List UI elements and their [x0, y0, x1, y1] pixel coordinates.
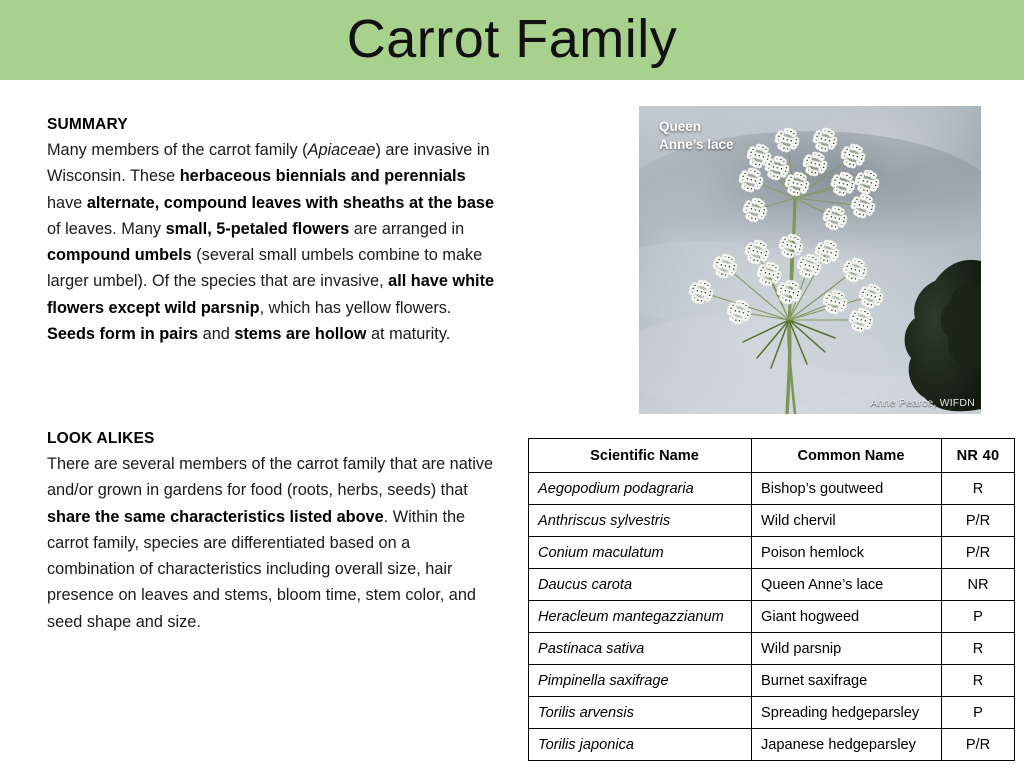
table-row: Torilis japonicaJapanese hedgeparsleyP/R: [529, 729, 1015, 761]
cell-nr40: P: [942, 601, 1015, 633]
cell-scientific-name: Anthriscus sylvestris: [529, 505, 752, 537]
cell-nr40: P/R: [942, 537, 1015, 569]
cell-nr40: R: [942, 665, 1015, 697]
cell-common-name: Queen Anne’s lace: [752, 569, 942, 601]
table-row: Torilis arvensisSpreading hedgeparsleyP: [529, 697, 1015, 729]
table-row: Pastinaca sativaWild parsnipR: [529, 633, 1015, 665]
column-header-common-name: Common Name: [752, 439, 942, 473]
table-row: Daucus carotaQueen Anne’s laceNR: [529, 569, 1015, 601]
column-header-nr40: NR 40: [942, 439, 1015, 473]
cell-scientific-name: Pimpinella saxifrage: [529, 665, 752, 697]
cell-common-name: Giant hogweed: [752, 601, 942, 633]
look-alikes-heading: LOOK ALIKES: [47, 427, 495, 450]
table-row: Pimpinella saxifrageBurnet saxifrageR: [529, 665, 1015, 697]
queen-annes-lace-photo: Queen Anne’s lace Anne Pearce, WIFDN: [639, 106, 981, 414]
cell-scientific-name: Torilis japonica: [529, 729, 752, 761]
summary-heading: SUMMARY: [47, 113, 495, 136]
cell-common-name: Poison hemlock: [752, 537, 942, 569]
table-row: Heracleum mantegazzianumGiant hogweedP: [529, 601, 1015, 633]
summary-section: SUMMARY Many members of the carrot famil…: [47, 113, 495, 347]
page-title: Carrot Family: [0, 0, 1024, 80]
cell-common-name: Bishop’s goutweed: [752, 473, 942, 505]
cell-nr40: P/R: [942, 505, 1015, 537]
look-alikes-paragraph: There are several members of the carrot …: [47, 451, 495, 635]
summary-paragraph: Many members of the carrot family (Apiac…: [47, 137, 495, 347]
cell-nr40: R: [942, 473, 1015, 505]
cell-scientific-name: Daucus carota: [529, 569, 752, 601]
cell-nr40: P: [942, 697, 1015, 729]
cell-scientific-name: Torilis arvensis: [529, 697, 752, 729]
cell-scientific-name: Aegopodium podagraria: [529, 473, 752, 505]
table-header-row: Scientific Name Common Name NR 40: [529, 439, 1015, 473]
cell-common-name: Wild parsnip: [752, 633, 942, 665]
cell-nr40: P/R: [942, 729, 1015, 761]
photo-species-label: Queen Anne’s lace: [659, 118, 779, 154]
table-row: Conium maculatumPoison hemlockP/R: [529, 537, 1015, 569]
table-row: Aegopodium podagrariaBishop’s goutweedR: [529, 473, 1015, 505]
cell-nr40: NR: [942, 569, 1015, 601]
species-table-body: Aegopodium podagrariaBishop’s goutweedRA…: [529, 473, 1015, 761]
photo-credit: Anne Pearce, WIFDN: [870, 397, 975, 409]
cell-common-name: Spreading hedgeparsley: [752, 697, 942, 729]
species-table: Scientific Name Common Name NR 40 Aegopo…: [528, 438, 1015, 761]
cell-common-name: Japanese hedgeparsley: [752, 729, 942, 761]
cell-scientific-name: Conium maculatum: [529, 537, 752, 569]
look-alikes-section: LOOK ALIKES There are several members of…: [47, 427, 495, 635]
cell-nr40: R: [942, 633, 1015, 665]
column-header-scientific-name: Scientific Name: [529, 439, 752, 473]
cell-scientific-name: Pastinaca sativa: [529, 633, 752, 665]
cell-common-name: Burnet saxifrage: [752, 665, 942, 697]
table-row: Anthriscus sylvestrisWild chervilP/R: [529, 505, 1015, 537]
cell-common-name: Wild chervil: [752, 505, 942, 537]
cell-scientific-name: Heracleum mantegazzianum: [529, 601, 752, 633]
